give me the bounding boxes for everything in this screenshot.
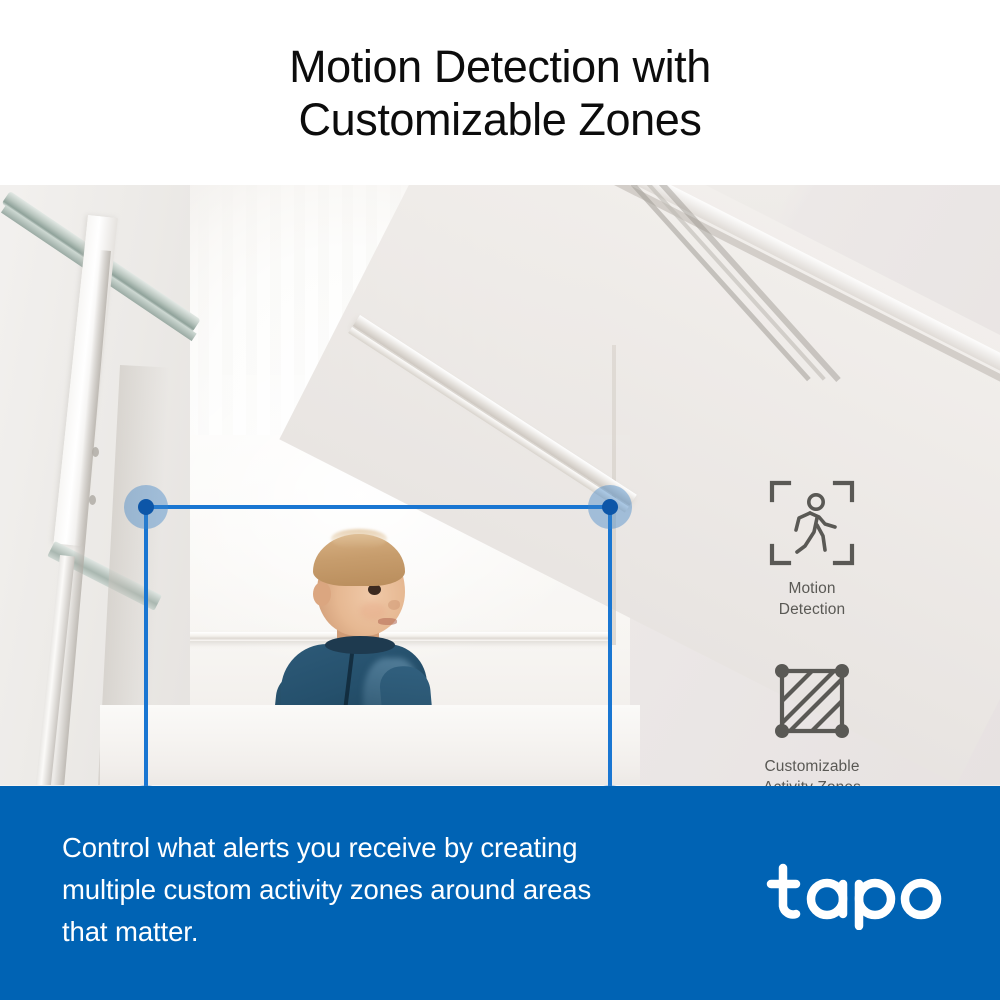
zone-handle-top-right[interactable] [588, 485, 632, 529]
feature-list: Motion Detection [722, 480, 902, 786]
zone-handle-top-left[interactable] [124, 485, 168, 529]
tapo-logo [763, 862, 953, 930]
activity-zone-rectangle[interactable] [146, 507, 610, 786]
feature-motion-detection-label: Motion Detection [722, 578, 902, 620]
stairway-photo: Motion Detection [0, 185, 1000, 786]
banner-line-1: Control what alerts you receive by creat… [62, 827, 682, 869]
feature-activity-zones-label: Customizable Activity Zones [722, 756, 902, 786]
zone-handle-dot [138, 499, 154, 515]
banner-description: Control what alerts you receive by creat… [62, 827, 682, 953]
banner-line-2: multiple custom activity zones around ar… [62, 869, 682, 911]
feature-label-line-2: Activity Zones [722, 777, 902, 786]
motion-detection-icon [769, 480, 855, 566]
customizable-activity-zones-icon [769, 658, 855, 744]
zone-edge-right[interactable] [608, 507, 612, 786]
page-title-line-2: Customizable Zones [299, 93, 702, 146]
page-title-line-1: Motion Detection with [289, 40, 711, 93]
infographic-page: Motion Detection with Customizable Zones [0, 0, 1000, 1000]
feature-label-line-1: Customizable [722, 756, 902, 777]
zone-edge-top[interactable] [146, 505, 610, 509]
feature-label-line-2: Detection [722, 599, 902, 620]
banister-hole-lower [89, 495, 96, 505]
zone-handle-dot [602, 499, 618, 515]
feature-customizable-activity-zones: Customizable Activity Zones [722, 658, 902, 786]
header: Motion Detection with Customizable Zones [0, 0, 1000, 185]
feature-label-line-1: Motion [722, 578, 902, 599]
zone-edge-left[interactable] [144, 507, 148, 786]
feature-motion-detection: Motion Detection [722, 480, 902, 620]
banner-line-3: that matter. [62, 911, 682, 953]
